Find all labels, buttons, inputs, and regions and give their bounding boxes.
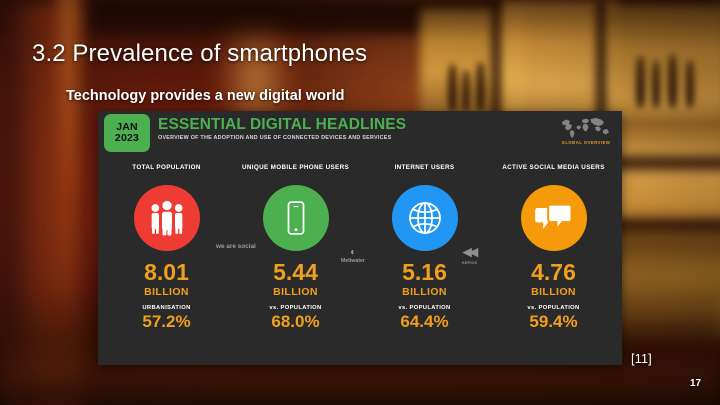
world-map-icon bbox=[559, 115, 613, 139]
global-overview-label: GLOBAL OVERVIEW bbox=[562, 140, 611, 145]
stat-label: ACTIVE SOCIAL MEDIA USERS bbox=[502, 163, 605, 182]
meltwater-label: Meltwater bbox=[341, 258, 365, 264]
stat-label: UNIQUE MOBILE PHONE USERS bbox=[242, 163, 349, 182]
kepios-label: KEPIOS bbox=[462, 260, 477, 265]
stat-total-population: TOTAL POPULATION bbox=[102, 163, 231, 330]
stat-icon-circle bbox=[521, 185, 587, 251]
speech-bubbles-icon bbox=[534, 198, 574, 238]
meltwater-glyph-icon: ◐ bbox=[341, 247, 365, 258]
stat-sublabel: vs. POPULATION bbox=[398, 305, 450, 311]
stat-percent: 57.2% bbox=[142, 313, 190, 330]
kepios-logo: ◂◂ KEPIOS bbox=[462, 243, 477, 265]
stat-value: 4.76 bbox=[531, 261, 576, 284]
stat-icon-circle bbox=[134, 185, 200, 251]
stat-percent: 68.0% bbox=[271, 313, 319, 330]
stat-percent: 64.4% bbox=[400, 313, 448, 330]
date-badge-year: 2023 bbox=[115, 133, 139, 144]
citation-reference: [11] bbox=[631, 351, 652, 366]
infographic-title: ESSENTIAL DIGITAL HEADLINES bbox=[158, 116, 406, 134]
stat-value: 5.16 bbox=[402, 261, 447, 284]
statistics-row: TOTAL POPULATION bbox=[98, 155, 622, 330]
stat-sublabel: vs. POPULATION bbox=[527, 305, 579, 311]
mobile-phone-icon bbox=[276, 198, 316, 238]
stat-icon-circle bbox=[263, 185, 329, 251]
stat-unit: BILLION bbox=[273, 286, 318, 298]
page-number: 17 bbox=[690, 378, 701, 389]
infographic-subtitle: OVERVIEW OF THE ADOPTION AND USE OF CONN… bbox=[158, 135, 391, 141]
date-badge: JAN 2023 bbox=[104, 114, 150, 152]
infographic-header: JAN 2023 ESSENTIAL DIGITAL HEADLINES OVE… bbox=[98, 111, 622, 155]
we-are-social-logo: we are social bbox=[216, 243, 256, 250]
stat-value: 5.44 bbox=[273, 261, 318, 284]
stat-percent: 59.4% bbox=[529, 313, 577, 330]
stat-sublabel: URBANISATION bbox=[142, 305, 190, 311]
we-are-social-label: we are social bbox=[216, 243, 256, 250]
people-icon bbox=[147, 198, 187, 238]
stat-sublabel: vs. POPULATION bbox=[269, 305, 321, 311]
slide-title: 3.2 Prevalence of smartphones bbox=[32, 40, 367, 68]
essential-digital-headlines-infographic: JAN 2023 ESSENTIAL DIGITAL HEADLINES OVE… bbox=[98, 111, 622, 365]
presentation-slide: 3.2 Prevalence of smartphones Technology… bbox=[0, 0, 720, 405]
slide-subtitle: Technology provides a new digital world bbox=[66, 88, 345, 104]
meltwater-logo: ◐ Meltwater bbox=[341, 247, 365, 264]
stat-active-social-media-users: ACTIVE SOCIAL MEDIA USERS 4.76 BILLION v… bbox=[489, 163, 618, 330]
stat-unit: BILLION bbox=[531, 286, 576, 298]
kepios-glyph-icon: ◂◂ bbox=[462, 243, 477, 260]
stat-icon-circle bbox=[392, 185, 458, 251]
stat-label: TOTAL POPULATION bbox=[132, 163, 200, 182]
stat-unit: BILLION bbox=[402, 286, 447, 298]
stat-unit: BILLION bbox=[144, 286, 189, 298]
stat-value: 8.01 bbox=[144, 261, 189, 284]
stat-label: INTERNET USERS bbox=[395, 163, 455, 182]
globe-icon bbox=[405, 198, 445, 238]
global-overview-mark: GLOBAL OVERVIEW bbox=[558, 115, 614, 149]
